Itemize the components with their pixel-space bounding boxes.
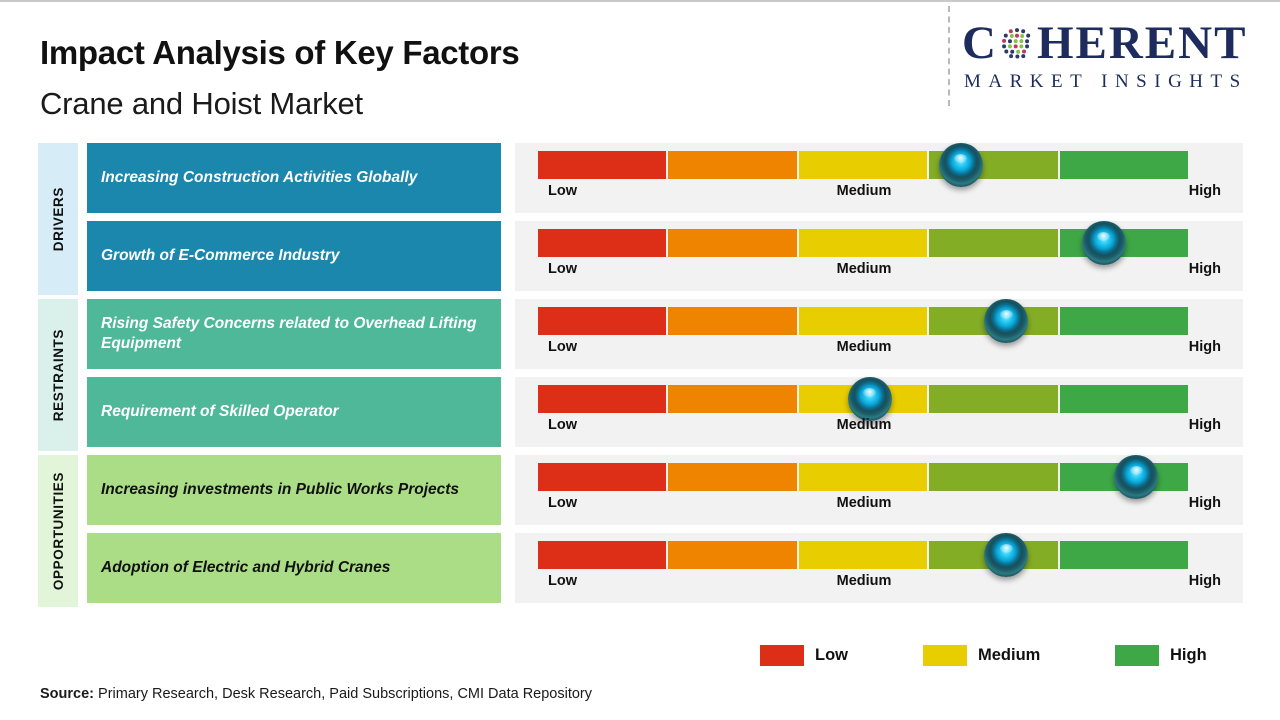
category-opportunities-label: OPPORTUNITIES [51, 472, 66, 590]
source-line: Source: Primary Research, Desk Research,… [40, 686, 592, 702]
infographic-page: Impact Analysis of Key Factors Crane and… [0, 0, 1280, 720]
gauge-segment-medium [799, 151, 927, 179]
logo-letter-c: C [962, 20, 998, 67]
gauge-segment-midhigh [929, 307, 1057, 335]
gauge-scale-labels: Low Medium High [515, 495, 1243, 519]
category-restraints: RESTRAINTS [38, 299, 78, 451]
factor-card: Rising Safety Concerns related to Overhe… [87, 299, 501, 369]
legend: Low Medium High [760, 645, 1220, 673]
legend-item-medium: Medium [923, 645, 1040, 666]
legend-item-high: High [1115, 645, 1207, 666]
scale-label-medium: Medium [500, 183, 1228, 199]
gauge-segment-high [1060, 151, 1188, 179]
scale-label-high: High [1189, 417, 1221, 433]
logo-wordmark: C [962, 18, 1262, 68]
gauge-segment-low [538, 541, 666, 569]
scale-label-high: High [1189, 495, 1221, 511]
gauge-scale-labels: Low Medium High [515, 339, 1243, 363]
gauge-scale-labels: Low Medium High [515, 261, 1243, 285]
gauge-segment-low [538, 463, 666, 491]
gauge-segment-medium [799, 229, 927, 257]
scale-label-high: High [1189, 339, 1221, 355]
scale-label-medium: Medium [500, 495, 1228, 511]
logo-tagline: MARKET INSIGHTS [962, 71, 1262, 93]
gauge-segment-high [1060, 229, 1188, 257]
legend-label-medium: Medium [978, 646, 1040, 665]
gauge-segment-lowmid [668, 385, 796, 413]
legend-label-high: High [1170, 646, 1207, 665]
impact-gauge-row: Low Medium High [515, 299, 1243, 369]
gauge-segment-low [538, 229, 666, 257]
legend-swatch-low [760, 645, 804, 666]
gauge-segment-lowmid [668, 541, 796, 569]
legend-swatch-medium [923, 645, 967, 666]
category-drivers: DRIVERS [38, 143, 78, 295]
gauge-segment-low [538, 307, 666, 335]
gauge-segment-high [1060, 463, 1188, 491]
gauge-segment-midhigh [929, 385, 1057, 413]
top-divider [0, 0, 1280, 2]
gauge-segment-medium [799, 307, 927, 335]
factor-card: Adoption of Electric and Hybrid Cranes [87, 533, 501, 603]
scale-label-high: High [1189, 261, 1221, 277]
gauge-segment-medium [799, 541, 927, 569]
gauge-segment-medium [799, 385, 927, 413]
scale-label-medium: Medium [500, 417, 1228, 433]
globe-dots-icon [998, 24, 1036, 62]
scale-label-medium: Medium [500, 573, 1228, 589]
gauge-segment-midhigh [929, 541, 1057, 569]
impact-gauge-row: Low Medium High [515, 221, 1243, 291]
impact-gauge-row: Low Medium High [515, 143, 1243, 213]
gauge-segment-lowmid [668, 463, 796, 491]
scale-label-high: High [1189, 183, 1221, 199]
gauge-segment-high [1060, 385, 1188, 413]
factor-card: Increasing Construction Activities Globa… [87, 143, 501, 213]
impact-gauge-bar [538, 307, 1188, 335]
legend-swatch-high [1115, 645, 1159, 666]
gauge-segment-lowmid [668, 229, 796, 257]
gauge-segment-midhigh [929, 151, 1057, 179]
scale-label-medium: Medium [500, 261, 1228, 277]
gauge-segment-low [538, 385, 666, 413]
source-label: Source: [40, 686, 94, 702]
impact-gauge-row: Low Medium High [515, 533, 1243, 603]
scale-label-high: High [1189, 573, 1221, 589]
impact-gauge-bar [538, 463, 1188, 491]
impact-gauge-row: Low Medium High [515, 377, 1243, 447]
page-subtitle: Crane and Hoist Market [40, 86, 363, 122]
gauge-segment-lowmid [668, 151, 796, 179]
logo-wordmark-text: HERENT [1037, 20, 1248, 67]
scale-label-medium: Medium [500, 339, 1228, 355]
gauge-segment-high [1060, 307, 1188, 335]
gauge-segment-low [538, 151, 666, 179]
factor-card: Increasing investments in Public Works P… [87, 455, 501, 525]
logo-divider [948, 6, 950, 106]
gauge-scale-labels: Low Medium High [515, 417, 1243, 441]
category-restraints-label: RESTRAINTS [51, 329, 66, 421]
impact-gauge-bar [538, 541, 1188, 569]
source-text: Primary Research, Desk Research, Paid Su… [94, 686, 592, 702]
gauge-scale-labels: Low Medium High [515, 183, 1243, 207]
gauge-segment-midhigh [929, 229, 1057, 257]
factor-card: Growth of E-Commerce Industry [87, 221, 501, 291]
gauge-segment-lowmid [668, 307, 796, 335]
gauge-scale-labels: Low Medium High [515, 573, 1243, 597]
impact-gauge-bar [538, 151, 1188, 179]
legend-item-low: Low [760, 645, 848, 666]
factor-card: Requirement of Skilled Operator [87, 377, 501, 447]
impact-gauge-bar [538, 385, 1188, 413]
company-logo: C [962, 18, 1262, 104]
gauge-segment-midhigh [929, 463, 1057, 491]
impact-gauge-bar [538, 229, 1188, 257]
category-drivers-label: DRIVERS [51, 187, 66, 251]
page-title: Impact Analysis of Key Factors [40, 34, 519, 72]
gauge-segment-high [1060, 541, 1188, 569]
gauge-segment-medium [799, 463, 927, 491]
legend-label-low: Low [815, 646, 848, 665]
category-opportunities: OPPORTUNITIES [38, 455, 78, 607]
impact-gauge-row: Low Medium High [515, 455, 1243, 525]
